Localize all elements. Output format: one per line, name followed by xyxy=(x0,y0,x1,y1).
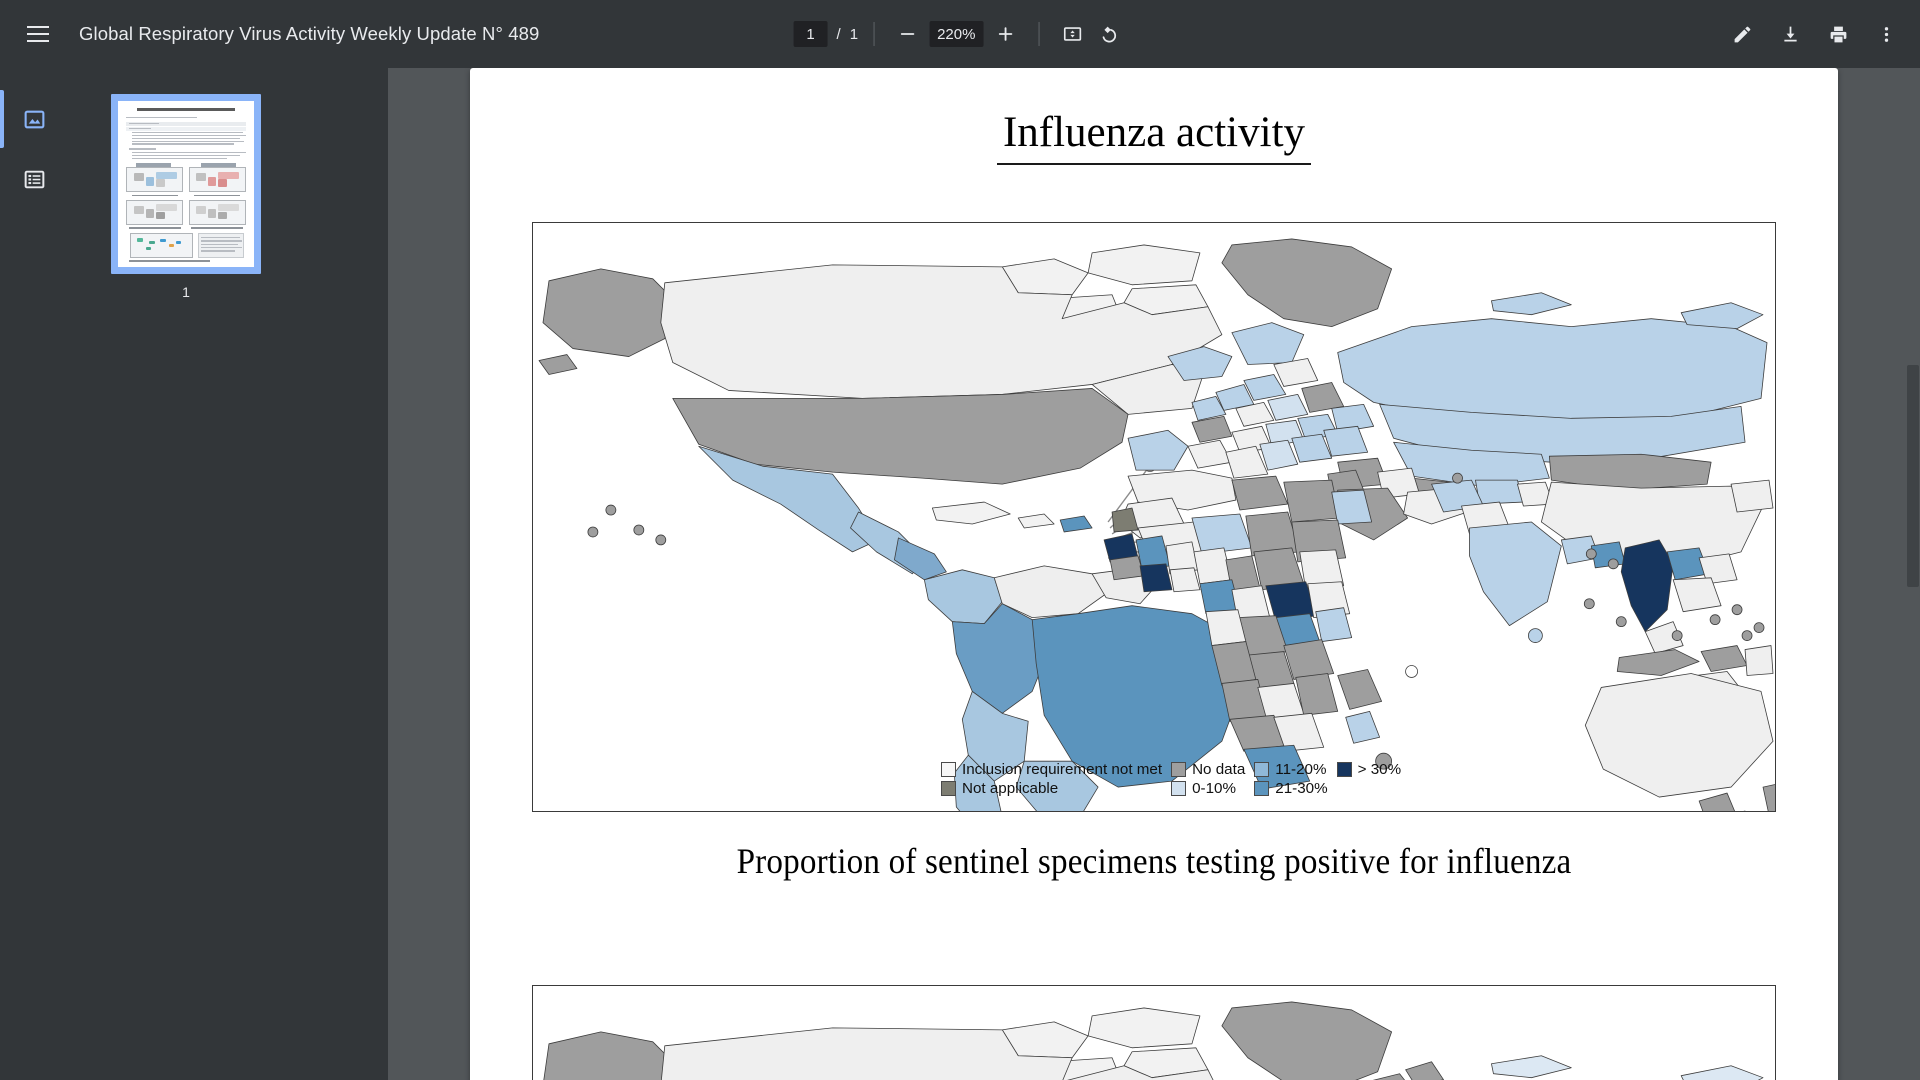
legend-item-3: > 30% xyxy=(1337,761,1402,778)
world-choropleth-map xyxy=(533,223,1775,811)
legend-label-4: Not applicable xyxy=(962,780,1058,797)
thumbnail-page-preview xyxy=(118,101,254,267)
page-zoom-controls: 1 / 1 220% xyxy=(794,0,1127,68)
hamburger-menu-icon[interactable] xyxy=(14,10,62,58)
influenza-positivity-map: Inclusion requirement not met No data 11… xyxy=(532,222,1776,812)
thumb-map-5 xyxy=(130,233,193,258)
divider xyxy=(1038,22,1039,46)
legend-swatch-2 xyxy=(1254,762,1269,777)
thumb-map-1 xyxy=(126,167,183,192)
document-title: Global Respiratory Virus Activity Weekly… xyxy=(79,23,539,45)
section-heading-text: Influenza activity xyxy=(997,110,1311,165)
zoom-out-button[interactable] xyxy=(889,16,925,52)
fit-to-page-button[interactable] xyxy=(1054,16,1090,52)
zoom-in-button[interactable] xyxy=(987,16,1023,52)
legend-swatch-1 xyxy=(1171,762,1186,777)
world-choropleth-map-2 xyxy=(533,986,1775,1080)
page-number-input[interactable]: 1 xyxy=(794,21,828,47)
zoom-level-input[interactable]: 220% xyxy=(929,21,983,47)
kebab-menu-icon[interactable] xyxy=(1868,16,1904,52)
pencil-icon[interactable] xyxy=(1724,16,1760,52)
legend-label-5: 0-10% xyxy=(1192,780,1236,797)
document-viewport[interactable]: Influenza activity xyxy=(388,68,1920,1080)
legend-label-6: 21-30% xyxy=(1275,780,1327,797)
divider xyxy=(873,22,874,46)
map-legend: Inclusion requirement not met No data 11… xyxy=(941,761,1401,797)
toolbar-actions xyxy=(1724,16,1904,52)
legend-label-1: No data xyxy=(1192,761,1245,778)
scrollbar-thumb[interactable] xyxy=(1907,365,1919,587)
vertical-scrollbar[interactable] xyxy=(1905,68,1920,1080)
sidebar-rail xyxy=(0,68,68,1080)
map-caption: Proportion of sentinel specimens testing… xyxy=(525,840,1784,882)
legend-swatch-6 xyxy=(1254,781,1269,796)
print-icon[interactable] xyxy=(1820,16,1856,52)
rotate-button[interactable] xyxy=(1090,16,1126,52)
thumbnail-view-icon[interactable] xyxy=(20,105,48,133)
legend-item-0: Inclusion requirement not met xyxy=(941,761,1162,778)
sidebar-active-indicator xyxy=(0,90,4,148)
second-map-partial xyxy=(532,985,1776,1080)
page-separator: / xyxy=(837,26,841,43)
download-icon[interactable] xyxy=(1772,16,1808,52)
legend-item-2: 11-20% xyxy=(1254,761,1327,778)
thumbnail-page-label: 1 xyxy=(111,284,261,300)
legend-label-0: Inclusion requirement not met xyxy=(962,761,1162,778)
legend-swatch-3 xyxy=(1337,762,1352,777)
legend-label-3: > 30% xyxy=(1358,761,1402,778)
legend-label-2: 11-20% xyxy=(1275,761,1326,778)
top-toolbar: Global Respiratory Virus Activity Weekly… xyxy=(0,0,1920,68)
thumb-map-4 xyxy=(189,200,246,225)
pdf-page-1: Influenza activity xyxy=(470,68,1838,1080)
thumb-map-2 xyxy=(189,167,246,192)
legend-item-6: 21-30% xyxy=(1254,780,1327,797)
section-heading: Influenza activity xyxy=(470,110,1838,165)
thumb-map-3 xyxy=(126,200,183,225)
thumbnail-pane: 1 xyxy=(68,68,388,1080)
legend-swatch-4 xyxy=(941,781,956,796)
legend-item-4: Not applicable xyxy=(941,780,1162,797)
legend-swatch-0 xyxy=(941,762,956,777)
thumb-title-bar xyxy=(137,108,235,111)
page-total: 1 xyxy=(850,26,858,43)
document-outline-icon[interactable] xyxy=(20,165,48,193)
thumbnail-page-1[interactable] xyxy=(111,94,261,274)
legend-swatch-5 xyxy=(1171,781,1186,796)
legend-item-5: 0-10% xyxy=(1171,780,1245,797)
legend-item-1: No data xyxy=(1171,761,1245,778)
